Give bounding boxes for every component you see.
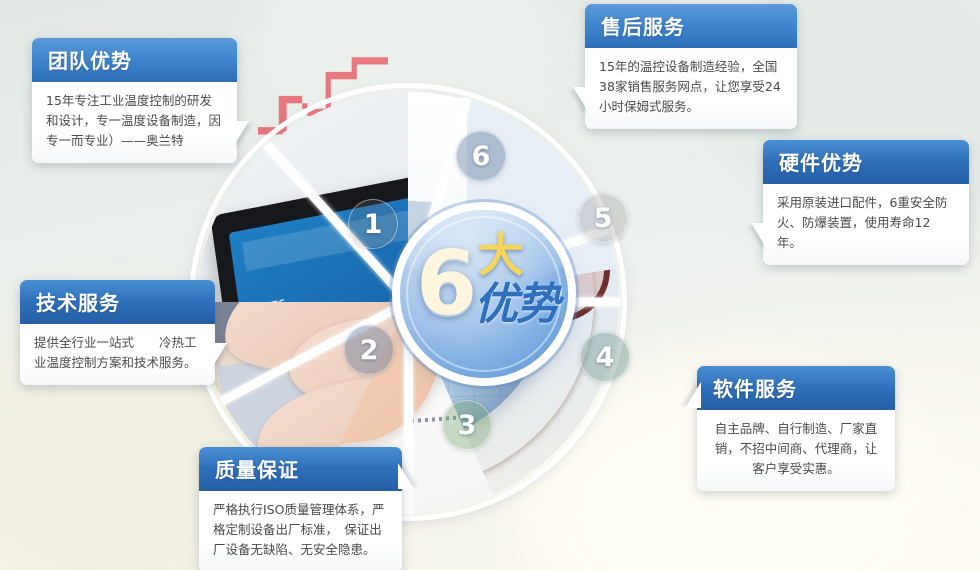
card-after-sales-service-body: 15年的温控设备制造经验，全国38家销售服务网点，让您享受24小时保姆式服务。	[585, 48, 797, 129]
segment-badge-3-label: 3	[458, 410, 477, 441]
speech-tail-icon	[573, 87, 589, 113]
card-quality-assurance-title: 质量保证	[199, 447, 402, 491]
segment-badge-6-label: 6	[472, 141, 491, 172]
segment-badge-5[interactable]: 5	[578, 193, 628, 243]
card-team-advantage-body: 15年专注工业温度控制的研发和设计，专一温度设备制造，因专一而专业）——奥兰特	[32, 82, 237, 163]
card-software-service-body: 自主品牌、自行制造、厂家直销，不招中间商、代理商，让客户享受实惠。	[697, 410, 895, 491]
card-team-advantage-title: 团队优势	[32, 38, 237, 82]
segment-badge-2[interactable]: 2	[344, 325, 394, 375]
segment-badge-1[interactable]: 1	[348, 199, 398, 249]
card-hardware-advantage-title: 硬件优势	[763, 140, 969, 184]
medallion-word: 优势	[474, 282, 558, 328]
medallion-number: 6	[416, 240, 477, 328]
medallion-unit: 大	[478, 232, 524, 278]
card-after-sales-service-title: 售后服务	[585, 4, 797, 48]
card-technical-service[interactable]: 技术服务 提供全行业一站式 冷热工业温度控制方案和技术服务。	[20, 280, 215, 385]
segment-badge-4[interactable]: 4	[580, 332, 630, 382]
card-technical-service-body: 提供全行业一站式 冷热工业温度控制方案和技术服务。	[20, 324, 215, 385]
card-quality-assurance[interactable]: 质量保证 严格执行ISO质量管理体系，严格定制设备出厂标准， 保证出厂设备无缺陷…	[199, 447, 402, 570]
card-hardware-advantage-body: 采用原装进口配件，6重安全防火、防爆装置，使用寿命12年。	[763, 184, 969, 265]
segment-badge-6[interactable]: 6	[456, 131, 506, 181]
segment-badge-5-label: 5	[594, 203, 613, 234]
card-team-advantage[interactable]: 团队优势 15年专注工业温度控制的研发和设计，专一温度设备制造，因专一而专业）—…	[32, 38, 237, 163]
segment-badge-1-label: 1	[364, 209, 383, 240]
speech-tail-icon	[751, 223, 767, 249]
speech-tail-icon	[685, 382, 701, 408]
speech-tail-icon	[211, 343, 227, 369]
card-hardware-advantage[interactable]: 硬件优势 采用原装进口配件，6重安全防火、防爆装置，使用寿命12年。	[763, 140, 969, 265]
card-technical-service-title: 技术服务	[20, 280, 215, 324]
segment-badge-4-label: 4	[596, 342, 615, 373]
segment-badge-3[interactable]: 3	[442, 400, 492, 450]
speech-tail-icon	[233, 121, 249, 147]
card-quality-assurance-body: 严格执行ISO质量管理体系，严格定制设备出厂标准， 保证出厂设备无缺陷、无安全隐…	[199, 491, 402, 570]
infographic-canvas: INTC	[0, 0, 980, 570]
speech-tail-icon	[398, 463, 414, 489]
center-medallion: 6 大 优势	[400, 210, 568, 378]
segment-badge-2-label: 2	[360, 335, 379, 366]
card-after-sales-service[interactable]: 售后服务 15年的温控设备制造经验，全国38家销售服务网点，让您享受24小时保姆…	[585, 4, 797, 129]
card-software-service[interactable]: 软件服务 自主品牌、自行制造、厂家直销，不招中间商、代理商，让客户享受实惠。	[697, 366, 895, 491]
card-software-service-title: 软件服务	[697, 366, 895, 410]
